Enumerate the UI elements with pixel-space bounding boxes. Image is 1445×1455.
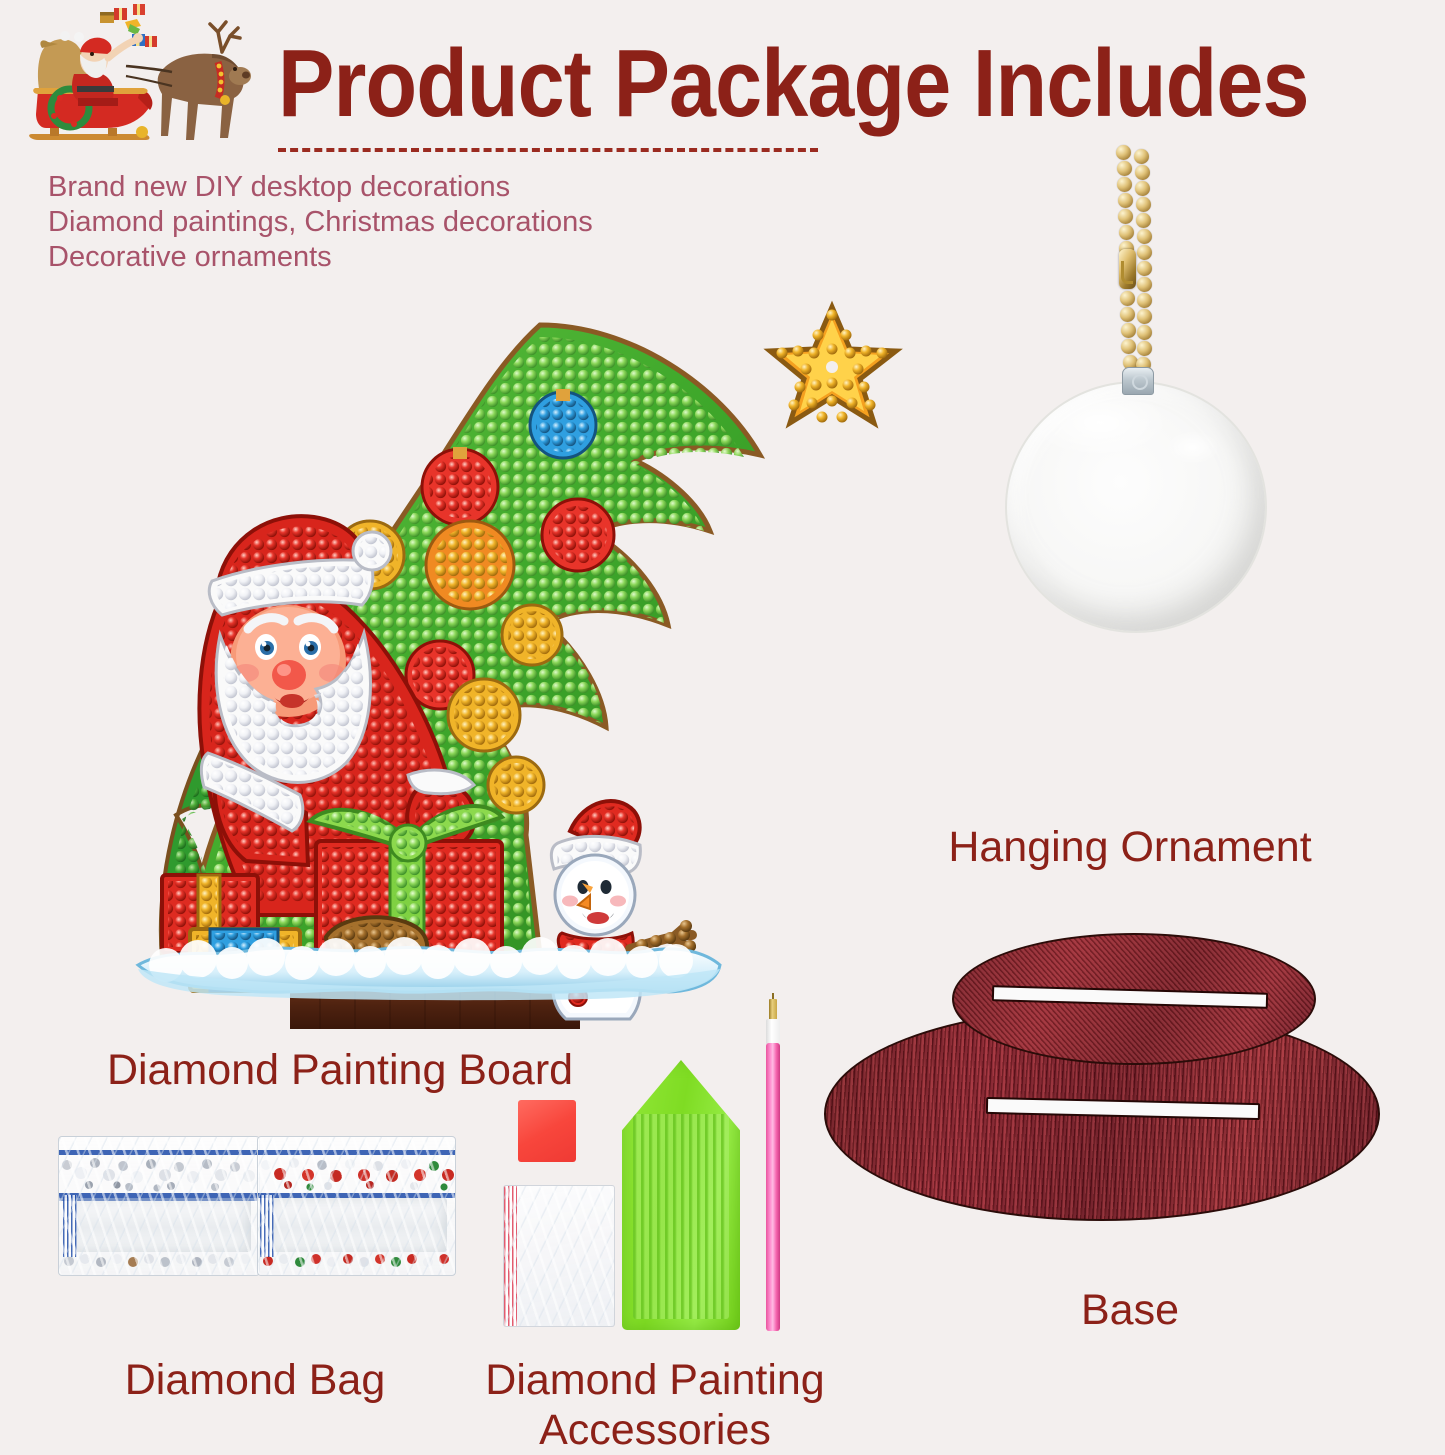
clear-glass-ball-icon xyxy=(1005,381,1267,633)
diamond-bag-left-pouch xyxy=(58,1136,260,1276)
bag-left-seal-icon xyxy=(63,1195,77,1257)
caption-accessories-line2: Accessories xyxy=(430,1405,880,1455)
clear-zip-bag-icon xyxy=(503,1185,615,1327)
hanging-ornament-image xyxy=(1010,145,1260,755)
subtitle-line-1: Brand new DIY desktop decorations xyxy=(48,172,510,202)
infographic-canvas: Product Package Includes Brand new DIY d… xyxy=(0,0,1445,1445)
pen-collar-icon xyxy=(766,1019,780,1045)
pink-drill-pen-icon xyxy=(762,993,784,1331)
title-divider xyxy=(278,148,818,152)
bag-right-seal-icon xyxy=(260,1195,274,1257)
green-diamond-tray-icon xyxy=(622,1060,740,1330)
accessories-image xyxy=(500,985,830,1335)
caption-base: Base xyxy=(1000,1285,1260,1335)
caption-diamond-bag: Diamond Bag xyxy=(60,1355,450,1405)
clasp-hook-icon xyxy=(1121,261,1133,284)
santa-sleigh-reindeer-icon xyxy=(22,2,258,148)
pen-barrel-icon xyxy=(766,1043,780,1331)
pen-gold-tip-icon xyxy=(769,999,777,1021)
ornament-metal-cap-icon xyxy=(1122,367,1154,395)
diamond-bag-image xyxy=(58,1136,454,1274)
red-wax-square-icon xyxy=(518,1100,576,1162)
diamond-bag-right-pouch xyxy=(257,1136,456,1276)
page-title: Product Package Includes xyxy=(278,36,1264,132)
caption-hanging-ornament: Hanging Ornament xyxy=(880,822,1380,872)
subtitle-line-2: Diamond paintings, Christmas decorations xyxy=(48,207,593,237)
wooden-base-image xyxy=(820,925,1380,1235)
caption-accessories-line1: Diamond Painting xyxy=(430,1355,880,1405)
bead-chain-icon xyxy=(1115,145,1157,385)
caption-accessories: Diamond Painting Accessories xyxy=(430,1355,880,1455)
diamond-painting-board-image xyxy=(70,265,910,1035)
